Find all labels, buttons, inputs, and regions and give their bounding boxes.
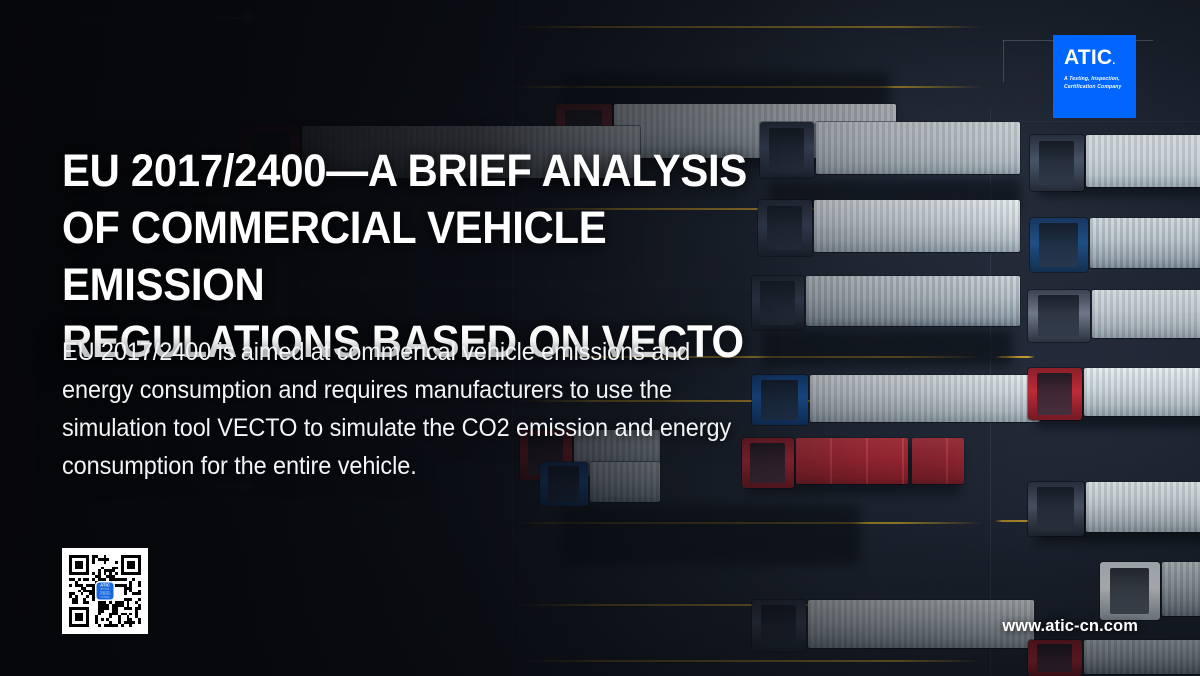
qr-code[interactable]: ATIC A Testing, Inspection Certification… xyxy=(62,548,148,634)
logo-dot: . xyxy=(1112,55,1115,67)
logo-text: ATIC xyxy=(1064,46,1112,69)
logo-tagline: A Testing, Inspection, Certification Com… xyxy=(1064,76,1136,92)
website-url[interactable]: www.atic-cn.com xyxy=(1002,617,1138,636)
poster-canvas: ATIC. A Testing, Inspection, Certificati… xyxy=(0,0,1200,676)
poster-content: ATIC. A Testing, Inspection, Certificati… xyxy=(0,0,1200,676)
qr-logo-text: ATIC xyxy=(100,584,110,588)
atic-logo[interactable]: ATIC. A Testing, Inspection, Certificati… xyxy=(1053,35,1136,118)
qr-center-logo: ATIC A Testing, Inspection Certification… xyxy=(97,583,114,600)
page-description: EU 2017/2400 is aimed at commerical vehi… xyxy=(62,333,758,485)
logo-frame-line xyxy=(1003,40,1004,82)
logo-wordmark: ATIC. xyxy=(1064,47,1136,68)
qr-logo-sub: A Testing, Inspection Certification Comp… xyxy=(97,589,114,599)
qr-matrix: ATIC A Testing, Inspection Certification… xyxy=(69,555,141,627)
